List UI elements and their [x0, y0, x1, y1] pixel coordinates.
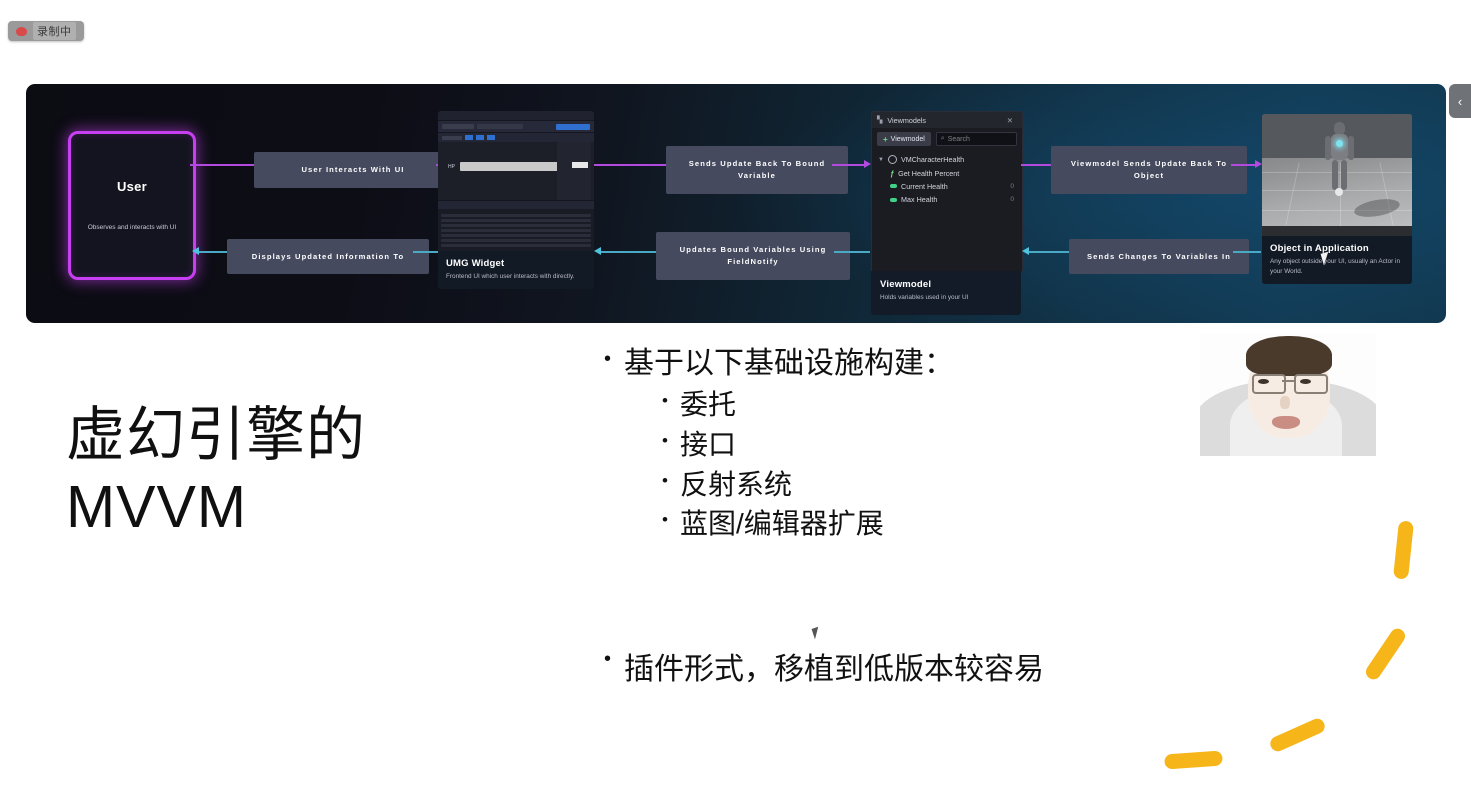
connector-line-user-to-umg — [190, 164, 254, 166]
umg-graph-tabs — [438, 201, 594, 209]
function-icon: ƒ — [890, 169, 894, 178]
tree-item-current-health[interactable]: Current Health 0 — [878, 180, 1018, 193]
tree-item-get-health-percent[interactable]: ƒ Get Health Percent — [878, 166, 1018, 179]
bullet-text: 反射系统 — [680, 467, 792, 503]
bullet-marker: • — [662, 427, 668, 463]
connector-line-object-to-viewmodel — [1029, 251, 1069, 253]
variable-icon — [890, 198, 897, 202]
list-item: • 蓝图/编辑器扩展 — [662, 506, 1224, 542]
connector-line-viewmodel-to-umg-2 — [834, 251, 870, 253]
decor-dash-1 — [1393, 520, 1414, 579]
bullet-text: 委托 — [680, 387, 736, 423]
bullet-text: 基于以下基础设施构建： — [624, 344, 954, 383]
list-item-last: • 插件形式，移植到低版本较容易 — [604, 644, 1044, 688]
diagram-node-umg-widget: HP UMG Widget Frontend UI which user int… — [438, 111, 594, 289]
connector-line-viewmodel-to-object — [1021, 164, 1051, 166]
presenter-eye-left — [1258, 379, 1269, 384]
bullet-marker: • — [662, 506, 668, 542]
presenter-glasses-left — [1252, 374, 1286, 394]
bullet-text: 蓝图/编辑器扩展 — [680, 506, 884, 542]
tree-item-label: Current Health — [901, 182, 948, 191]
connector-line-umg-to-viewmodel — [594, 164, 666, 166]
viewmodel-toolbar: + Viewmodel ⌕ Search — [872, 128, 1022, 150]
connector-label-viewmodel-to-umg: Updates Bound Variables Using FieldNotif… — [656, 232, 850, 280]
tree-item-vmcharacterhealth[interactable]: ▼ VMCharacterHealth — [878, 153, 1018, 166]
connector-line-umg-to-viewmodel-2 — [832, 164, 864, 166]
connector-line-umg-to-user — [199, 251, 227, 253]
arrowhead-viewmodel-to-umg — [594, 247, 601, 255]
user-node-title: User — [117, 179, 147, 194]
list-item: • 反射系统 — [662, 467, 1224, 503]
umg-node-caption: UMG Widget Frontend UI which user intera… — [438, 251, 594, 289]
decor-dash-4 — [1164, 750, 1223, 769]
viewmodel-node-subtitle: Holds variables used in your UI — [880, 293, 1012, 302]
plus-icon: + — [883, 135, 888, 144]
tree-item-label: VMCharacterHealth — [901, 155, 964, 164]
recording-label: 录制中 — [33, 22, 76, 40]
umg-node-subtitle: Frontend UI which user interacts with di… — [446, 272, 586, 281]
tree-item-max-health[interactable]: Max Health 0 — [878, 193, 1018, 206]
umg-canvas: HP — [438, 142, 594, 200]
record-cloud-icon — [16, 27, 27, 36]
arrowhead-viewmodel-to-object — [1255, 160, 1262, 168]
viewmodel-search-placeholder: Search — [948, 136, 970, 143]
umg-toolbar — [438, 121, 594, 132]
connector-label-viewmodel-to-object: Viewmodel Sends Update Back To Object — [1051, 146, 1247, 194]
presenter-mouth — [1272, 416, 1300, 429]
arrowhead-object-to-viewmodel — [1022, 247, 1029, 255]
tree-item-label: Get Health Percent — [898, 169, 959, 178]
umg-node-title: UMG Widget — [446, 258, 586, 269]
connector-line-viewmodel-to-umg — [601, 251, 656, 253]
object-viewport-preview — [1262, 114, 1412, 226]
presenter-nose — [1280, 396, 1290, 409]
presenter-eye-right — [1300, 379, 1311, 384]
list-item: • 委托 — [662, 387, 1224, 423]
list-item: • 接口 — [662, 427, 1224, 463]
connector-label-umg-to-user: Displays Updated Information To — [227, 239, 429, 274]
umg-titlebar — [438, 111, 594, 120]
object-node-caption: Object in Application Any object outside… — [1262, 236, 1412, 284]
decor-dash-2 — [1363, 626, 1408, 682]
arrowhead-umg-to-user — [192, 247, 199, 255]
tree-item-value: 0 — [1010, 196, 1018, 203]
viewmodels-tabbar[interactable]: ▚ Viewmodels ✕ — [872, 112, 1022, 128]
bullet-marker: • — [604, 344, 611, 383]
connector-label-object-to-viewmodel: Sends Changes To Variables In — [1069, 239, 1249, 274]
presenter-glasses-right — [1294, 374, 1328, 394]
connector-label-user-to-umg: User Interacts With UI — [254, 152, 452, 188]
bullet-text: 接口 — [680, 427, 736, 463]
mvvm-diagram-panel: User Observes and interacts with UI User… — [26, 84, 1446, 323]
bullet-marker: • — [662, 467, 668, 503]
close-icon[interactable]: ✕ — [1007, 116, 1017, 125]
umg-graph-rows — [438, 209, 594, 252]
chevron-down-icon[interactable]: ▼ — [878, 157, 884, 163]
arrowhead-umg-to-viewmodel — [864, 160, 871, 168]
viewmodels-tab-label: Viewmodels — [887, 116, 926, 125]
diagram-node-object-in-application: Object in Application Any object outside… — [1262, 114, 1412, 284]
page-title: 虚幻引擎的MVVM — [66, 400, 526, 544]
collapse-panel-button[interactable]: ‹ — [1449, 84, 1471, 118]
presenter-hair — [1246, 336, 1332, 376]
webcam-overlay — [1200, 334, 1376, 456]
recording-badge: 录制中 — [8, 21, 84, 41]
bullet-list: • 基于以下基础设施构建： • 委托 • 接口 • 反射系统 • 蓝图/编辑器扩… — [604, 344, 1224, 546]
viewmodel-node-caption: Viewmodel Holds variables used in your U… — [871, 271, 1021, 315]
bullet-marker: • — [604, 644, 611, 688]
object-node-subtitle: Any object outside your UI, usually an A… — [1270, 257, 1404, 276]
viewmodel-tree: ▼ VMCharacterHealth ƒ Get Health Percent… — [872, 150, 1022, 207]
tree-item-value: 0 — [1010, 183, 1018, 190]
add-viewmodel-label: Viewmodel — [891, 136, 925, 143]
search-icon: ⌕ — [941, 135, 945, 143]
connector-line-viewmodel-to-object-2 — [1231, 164, 1255, 166]
viewmodels-tab-icon: ▚ — [877, 116, 882, 124]
tree-item-label: Max Health — [901, 195, 937, 204]
object-node-title: Object in Application — [1270, 243, 1404, 254]
add-viewmodel-button[interactable]: + Viewmodel — [877, 132, 931, 146]
user-node-subtitle: Observes and interacts with UI — [88, 224, 177, 233]
list-item: • 基于以下基础设施构建： — [604, 344, 1224, 383]
viewmodel-search-input[interactable]: ⌕ Search — [936, 132, 1017, 146]
decor-dash-3 — [1268, 716, 1327, 753]
connector-line-object-to-viewmodel-2 — [1233, 251, 1261, 253]
diagram-node-user: User Observes and interacts with UI — [68, 131, 196, 280]
variable-icon — [890, 184, 897, 188]
presenter-glasses-bridge — [1282, 380, 1294, 382]
class-icon — [888, 155, 897, 164]
umg-subtoolbar — [438, 133, 594, 142]
connector-label-umg-to-viewmodel: Sends Update Back To Bound Variable — [666, 146, 848, 194]
cursor-pointer-slide — [812, 626, 826, 640]
viewmodel-node-title: Viewmodel — [880, 279, 1012, 290]
bullet-text: 插件形式，移植到低版本较容易 — [624, 644, 1044, 688]
diagram-node-viewmodel-panel: ▚ Viewmodels ✕ + Viewmodel ⌕ Search ▼ VM… — [871, 111, 1023, 273]
bullet-marker: • — [662, 387, 668, 423]
mannequin-character — [1324, 122, 1354, 218]
